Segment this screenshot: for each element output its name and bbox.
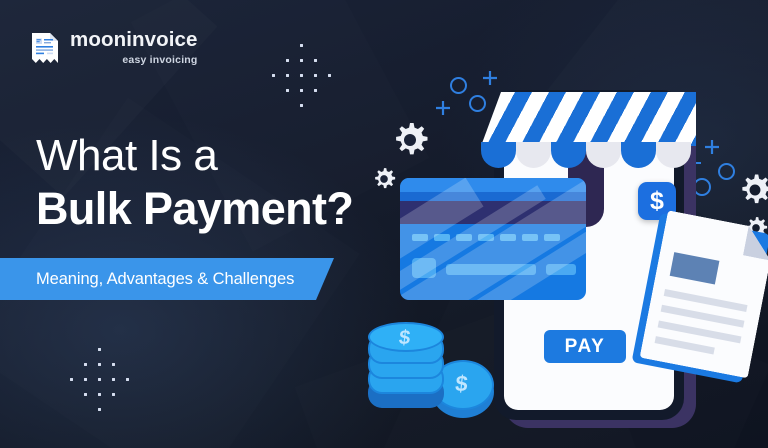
- title-line-1: What Is a: [36, 131, 353, 180]
- dot-grid-decoration: [264, 44, 342, 122]
- credit-card: [400, 178, 586, 300]
- coin-dollar-icon: $: [454, 370, 472, 396]
- brand-logo[interactable]: mooninvoice easy invoicing: [30, 30, 198, 65]
- awning-scallop: [621, 142, 656, 168]
- subtitle-text: Meaning, Advantages & Challenges: [0, 270, 294, 289]
- pay-button[interactable]: PAY: [544, 330, 626, 363]
- svg-text:$: $: [398, 327, 411, 349]
- invoice-document: [638, 210, 768, 388]
- card-top-band: [400, 178, 586, 192]
- brand-logo-text: mooninvoice easy invoicing: [70, 30, 198, 65]
- awning-scallop: [656, 142, 691, 168]
- page-title: What Is a Bulk Payment?: [36, 131, 353, 235]
- payment-illustration: PAY $ $ $: [352, 60, 768, 448]
- coin-stack: $ $: [364, 322, 494, 422]
- awning-scallop: [586, 142, 621, 168]
- awning-scallop: [516, 142, 551, 168]
- title-line-2: Bulk Payment?: [36, 182, 353, 235]
- awning-scallop: [481, 142, 516, 168]
- storefront-awning: [481, 92, 696, 170]
- awning-stripes: [481, 92, 696, 146]
- pay-button-label: PAY: [565, 336, 606, 358]
- dollar-icon: $: [650, 189, 664, 214]
- brand-tagline: easy invoicing: [70, 55, 198, 66]
- awning-scallop: [551, 142, 586, 168]
- subtitle-banner: Meaning, Advantages & Challenges: [0, 258, 334, 300]
- svg-text:$: $: [454, 371, 469, 396]
- invoice-document-icon: [30, 32, 60, 64]
- dot-grid-decoration: [62, 348, 140, 426]
- hero-banner: mooninvoice easy invoicing What Is a Bul…: [0, 0, 768, 448]
- coin-dollar-icon: $: [395, 325, 417, 349]
- brand-name: mooninvoice: [70, 30, 198, 51]
